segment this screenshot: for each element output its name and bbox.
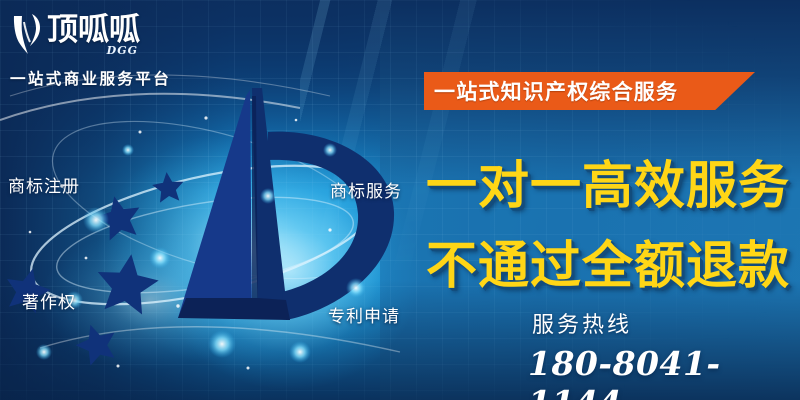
headline-line-2: 不通过全额退款 (426, 224, 790, 298)
promotional-banner: 顶呱呱 DGG 一站式商业服务平台 商标注册 著作权 商标服务 专利申请 一站式… (0, 0, 800, 400)
logo-brand-en: DGG (107, 44, 138, 57)
hotline-number[interactable]: 180-8041-1144 (528, 344, 800, 400)
label-patent-application: 专利申请 (328, 302, 400, 327)
logo-brand-cn: 顶呱呱 (47, 12, 140, 48)
brand-logo[interactable]: 顶呱呱 DGG 一站式商业服务平台 (10, 12, 190, 89)
logo-tagline: 一站式商业服务平台 (10, 67, 190, 89)
label-copyright: 著作权 (22, 288, 76, 313)
label-trademark-registration: 商标注册 (8, 172, 80, 197)
hotline-label: 服务热线 (532, 307, 632, 339)
promo-panel: 一站式知识产权综合服务 一对一高效服务 不通过全额退款 服务热线 180-804… (410, 0, 800, 400)
headline-line-1: 一对一高效服务 (426, 144, 790, 218)
dgg-flame-mark-icon (10, 12, 44, 58)
ribbon-text: 一站式知识产权综合服务 (434, 72, 678, 110)
label-trademark-service: 商标服务 (330, 177, 402, 202)
